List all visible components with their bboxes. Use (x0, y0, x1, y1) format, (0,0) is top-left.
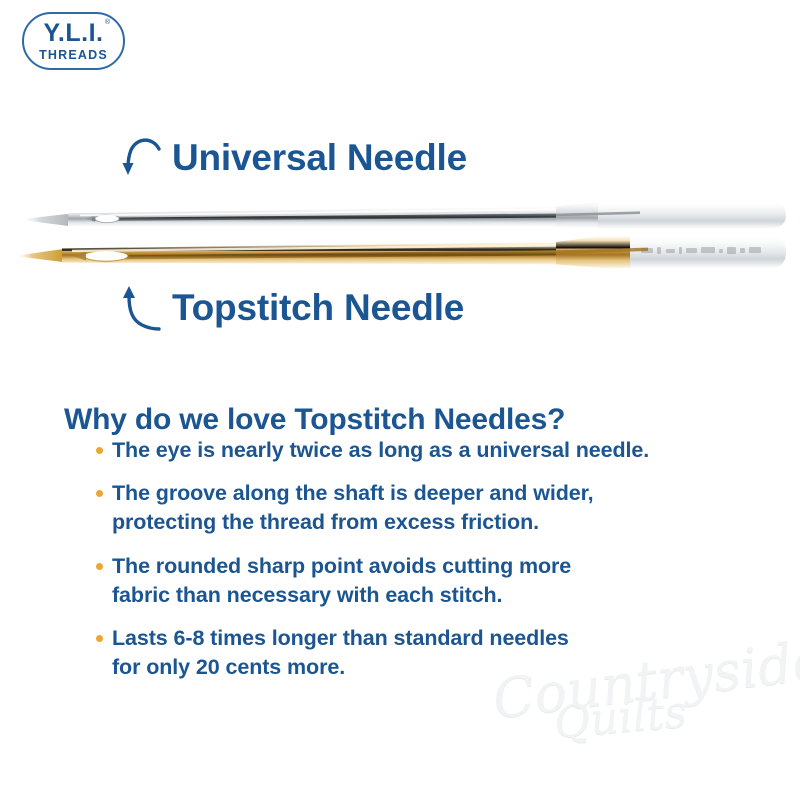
benefit-text: The groove along the shaft is deeper and… (112, 479, 594, 537)
benefit-text: Lasts 6-8 times longer than standard nee… (112, 624, 569, 682)
curved-arrow-down-left-icon (120, 134, 162, 182)
callout-universal-needle: Universal Needle (120, 134, 467, 182)
benefit-line-1: The rounded sharp point avoids cutting m… (112, 554, 571, 578)
callout-universal-label: Universal Needle (172, 137, 467, 179)
benefit-line-1: The groove along the shaft is deeper and… (112, 481, 594, 505)
curved-arrow-up-left-icon (120, 282, 162, 334)
needle-illustration-svg (0, 176, 800, 284)
benefit-text: The eye is nearly twice as long as a uni… (112, 436, 649, 465)
bullet-dot-icon (96, 447, 103, 454)
needle-comparison-figure (0, 176, 800, 284)
universal-needle-graphic (18, 202, 786, 229)
bullet-dot-icon (96, 490, 103, 497)
logo-subtext: THREADS (39, 49, 108, 62)
logo-wordmark-text: Y.L.I. (44, 19, 104, 47)
section-heading: Why do we love Topstitch Needles? (64, 403, 565, 437)
list-item: The eye is nearly twice as long as a uni… (96, 436, 756, 465)
bullet-dot-icon (96, 635, 103, 642)
callout-topstitch-label: Topstitch Needle (172, 287, 464, 329)
benefit-line-1: Lasts 6-8 times longer than standard nee… (112, 626, 569, 650)
bullet-dot-icon (96, 563, 103, 570)
topstitch-needle-graphic (14, 236, 786, 268)
registered-mark-icon: ® (105, 19, 111, 26)
benefit-line-2: fabric than necessary with each stitch. (112, 581, 571, 610)
benefit-text: The rounded sharp point avoids cutting m… (112, 552, 571, 610)
benefit-list: The eye is nearly twice as long as a uni… (96, 436, 756, 697)
list-item: The rounded sharp point avoids cutting m… (96, 552, 756, 610)
callout-topstitch-needle: Topstitch Needle (120, 282, 464, 334)
list-item: Lasts 6-8 times longer than standard nee… (96, 624, 756, 682)
brand-logo[interactable]: Y.L.I. ® THREADS (22, 12, 125, 70)
benefit-line-2: protecting the thread from excess fricti… (112, 508, 594, 537)
list-item: The groove along the shaft is deeper and… (96, 479, 756, 537)
infographic-canvas: Y.L.I. ® THREADS (0, 0, 800, 800)
benefit-line-2: for only 20 cents more. (112, 653, 569, 682)
logo-wordmark: Y.L.I. ® (44, 21, 104, 46)
benefit-line-1: The eye is nearly twice as long as a uni… (112, 438, 649, 462)
